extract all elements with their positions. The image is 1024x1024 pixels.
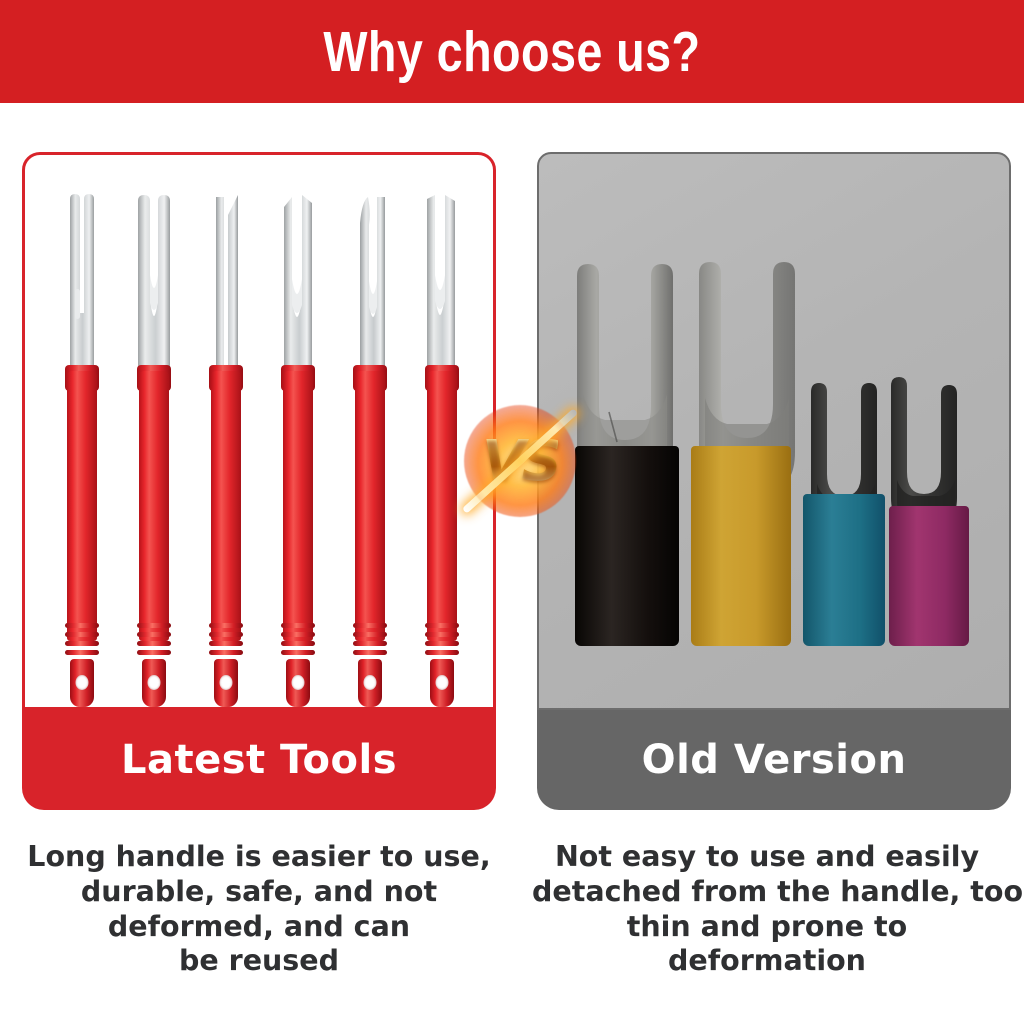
terminal-magenta-sleeve bbox=[889, 506, 969, 646]
terminal-gold-sleeve bbox=[691, 446, 791, 646]
tool-3-hang-hole bbox=[220, 675, 233, 690]
header-banner: Why choose us? bbox=[0, 0, 1024, 103]
caption-left-line-3: deformed, and can bbox=[24, 910, 494, 945]
tool-2 bbox=[123, 193, 185, 703]
latest-tools-caption: Long handle is easier to use, durable, s… bbox=[24, 840, 494, 979]
caption-right-line-4: deformation bbox=[532, 944, 1002, 979]
tool-3-handle bbox=[211, 371, 241, 703]
comparison-infographic: Why choose us? bbox=[0, 0, 1024, 1024]
tool-3-blade-icon bbox=[204, 193, 248, 383]
tool-1-hang-hole bbox=[76, 675, 89, 690]
old-version-image-card bbox=[537, 152, 1011, 710]
panel-latest-tools: Latest Tools bbox=[22, 152, 496, 810]
tool-5 bbox=[339, 193, 401, 703]
latest-tools-label-band: Latest Tools bbox=[22, 710, 496, 810]
page-title: Why choose us? bbox=[323, 19, 700, 85]
panel-old-version: Old Version bbox=[537, 152, 1011, 810]
terminal-teal-sleeve bbox=[803, 494, 885, 646]
old-version-label: Old Version bbox=[642, 737, 907, 783]
tool-2-handle bbox=[139, 371, 169, 703]
caption-right-line-2: detached from the handle, too bbox=[532, 875, 1002, 910]
tool-5-hang-hole bbox=[364, 675, 377, 690]
tool-2-hang-hole bbox=[148, 675, 161, 690]
caption-left-line-4: be reused bbox=[24, 944, 494, 979]
latest-tools-label: Latest Tools bbox=[121, 737, 397, 783]
caption-right-line-1: Not easy to use and easily bbox=[532, 840, 1002, 875]
tool-1-handle bbox=[67, 371, 97, 703]
caption-right-line-3: thin and prone to bbox=[532, 910, 1002, 945]
tool-5-handle bbox=[355, 371, 385, 703]
tool-6-blade-icon bbox=[417, 193, 467, 383]
old-version-caption: Not easy to use and easily detached from… bbox=[532, 840, 1002, 979]
tool-1-blade-icon bbox=[59, 193, 105, 383]
tool-3 bbox=[195, 193, 257, 703]
tool-4 bbox=[267, 193, 329, 703]
tool-1 bbox=[51, 193, 113, 703]
tool-6-hang-hole bbox=[436, 675, 449, 690]
tools-product-image bbox=[25, 155, 493, 707]
tool-2-blade-icon bbox=[129, 193, 179, 383]
caption-left-line-1: Long handle is easier to use, bbox=[24, 840, 494, 875]
old-version-label-band: Old Version bbox=[537, 710, 1011, 810]
vs-badge: VS bbox=[462, 398, 578, 524]
tool-6-handle bbox=[427, 371, 457, 703]
tool-4-hang-hole bbox=[292, 675, 305, 690]
latest-tools-image-card bbox=[22, 152, 496, 710]
terminal-black-sleeve bbox=[575, 446, 679, 646]
tool-4-blade-icon bbox=[274, 193, 322, 383]
tool-4-handle bbox=[283, 371, 313, 703]
old-terminals-product-image bbox=[539, 154, 1009, 708]
tool-5-blade-icon bbox=[347, 193, 393, 383]
caption-left-line-2: durable, safe, and not bbox=[24, 875, 494, 910]
